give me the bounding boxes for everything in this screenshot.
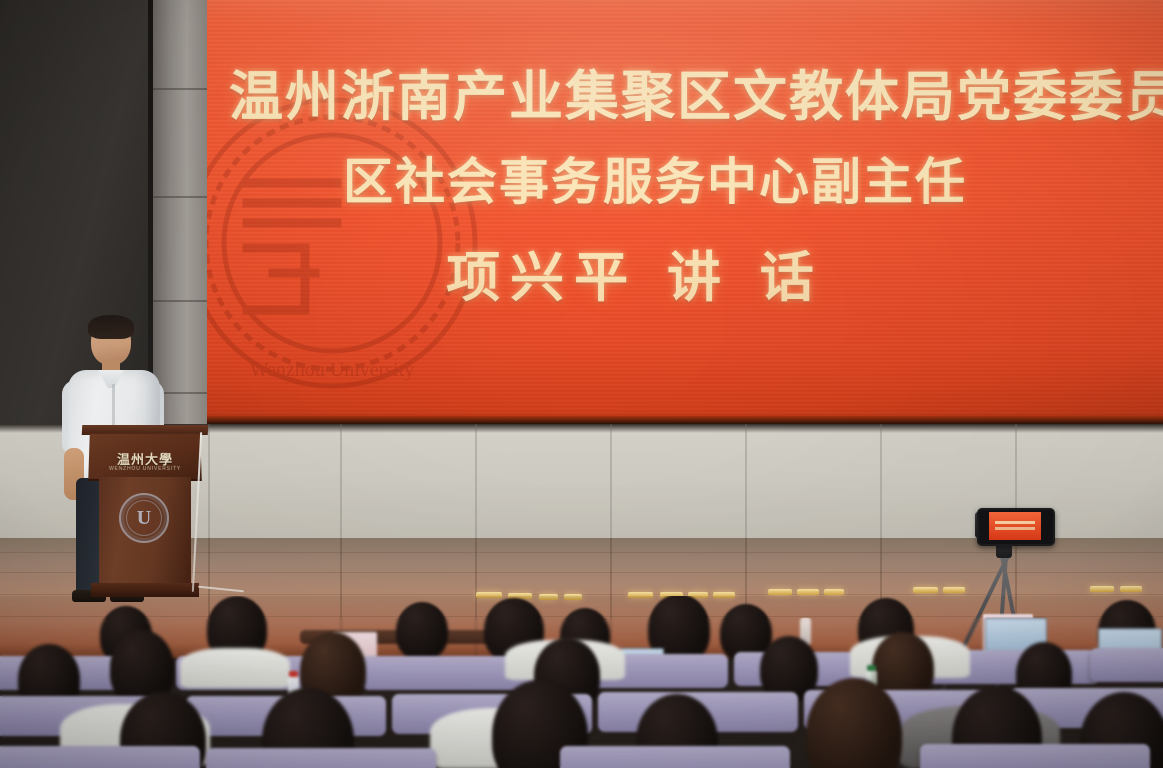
seat-row xyxy=(206,748,436,768)
stage-footlight xyxy=(1090,586,1114,592)
stage-footlight xyxy=(768,589,792,595)
audience-area xyxy=(0,596,1163,768)
audience-shoulders xyxy=(180,648,290,688)
audience-head xyxy=(396,602,448,660)
stage-footlight xyxy=(943,587,965,593)
stage-footlight xyxy=(797,589,819,595)
watermark-text: Wenzhou University xyxy=(250,359,414,381)
stage-footlight xyxy=(824,589,844,595)
speaker-hair xyxy=(88,315,134,339)
screen-bottom-frame xyxy=(207,416,1163,424)
phone-screen-preview xyxy=(989,512,1041,540)
university-emblem-icon: U xyxy=(119,493,169,543)
emblem-letter: U xyxy=(126,500,162,536)
smartphone-recording[interactable] xyxy=(977,508,1055,546)
podium-front-face: 温州大學 WENZHOU UNIVERSITY xyxy=(88,434,202,481)
seat-row xyxy=(920,744,1150,768)
screen-line-1: 温州浙南产业集聚区文教体局党委委员 xyxy=(229,52,1163,131)
stage-footlight xyxy=(913,587,938,593)
stage-footlight xyxy=(1120,586,1142,592)
seat-row xyxy=(0,746,200,768)
led-presentation-screen: Wenzhou University 温州浙南产业集聚区文教体局党委委员 区社会… xyxy=(207,0,1163,424)
seat-row xyxy=(1090,648,1163,682)
lectern-podium: 温州大學 WENZHOU UNIVERSITY U xyxy=(86,425,204,602)
podium-university-name-en: WENZHOU UNIVERSITY xyxy=(89,466,202,472)
seat-row xyxy=(560,746,790,768)
screen-line-2: 区社会事务服务中心副主任 xyxy=(207,142,1163,214)
screen-line-3: 项兴平 讲 话 xyxy=(207,233,1163,312)
conference-photo: Wenzhou University 温州浙南产业集聚区文教体局党委委员 区社会… xyxy=(0,0,1163,768)
podium-base xyxy=(91,583,199,597)
